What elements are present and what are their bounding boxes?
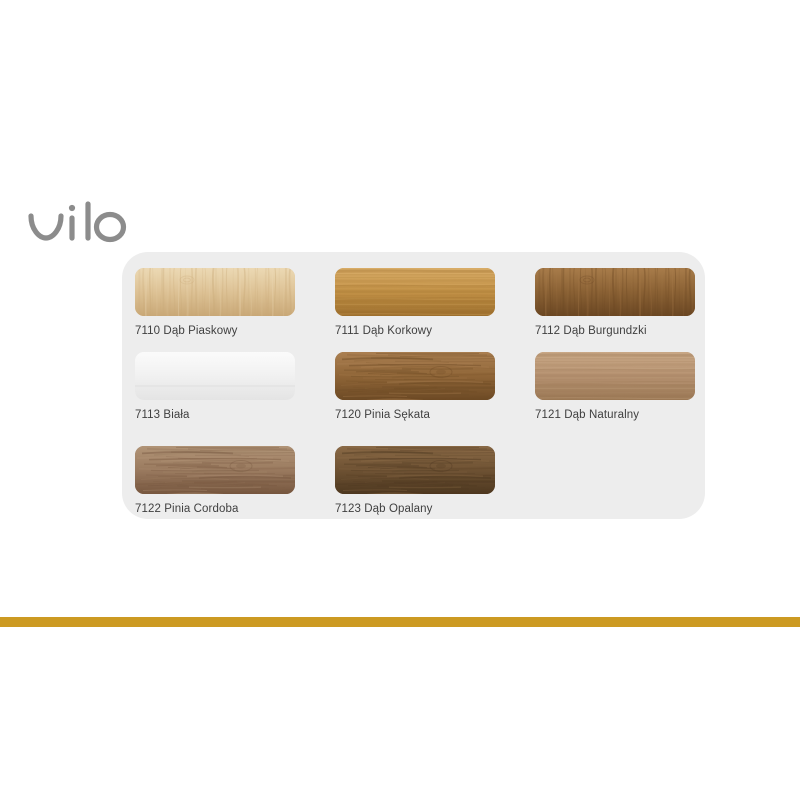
swatch-label-7123: 7123 Dąb Opalany <box>335 503 495 515</box>
swatch-grid: 7110 Dąb Piaskowy7111 Dąb Korkowy7112 Dą… <box>122 252 705 519</box>
swatch-item-7113[interactable]: 7113 Biała <box>135 352 295 421</box>
swatch-chip-7110[interactable] <box>135 268 295 316</box>
swatch-item-7122[interactable]: 7122 Pinia Cordoba <box>135 446 295 515</box>
swatch-chip-7121[interactable] <box>535 352 695 400</box>
swatch-panel: 7110 Dąb Piaskowy7111 Dąb Korkowy7112 Dą… <box>122 252 705 519</box>
letter-i-dot-icon <box>69 205 75 211</box>
swatch-label-7120: 7120 Pinia Sękata <box>335 409 495 421</box>
swatch-chip-7122[interactable] <box>135 446 295 494</box>
swatch-chip-7112[interactable] <box>535 268 695 316</box>
accent-bar <box>0 617 800 627</box>
swatch-label-7110: 7110 Dąb Piaskowy <box>135 325 295 337</box>
swatch-item-7120[interactable]: 7120 Pinia Sękata <box>335 352 495 421</box>
swatch-label-7112: 7112 Dąb Burgundzki <box>535 325 695 337</box>
swatch-chip-7113[interactable] <box>135 352 295 400</box>
swatch-item-7110[interactable]: 7110 Dąb Piaskowy <box>135 268 295 337</box>
swatch-label-7122: 7122 Pinia Cordoba <box>135 503 295 515</box>
swatch-item-7111[interactable]: 7111 Dąb Korkowy <box>335 268 495 337</box>
swatch-item-7121[interactable]: 7121 Dąb Naturalny <box>535 352 695 421</box>
swatch-label-7121: 7121 Dąb Naturalny <box>535 409 695 421</box>
swatch-item-7123[interactable]: 7123 Dąb Opalany <box>335 446 495 515</box>
swatch-chip-7111[interactable] <box>335 268 495 316</box>
swatch-chip-7120[interactable] <box>335 352 495 400</box>
brand-logo <box>26 196 146 252</box>
swatch-label-7111: 7111 Dąb Korkowy <box>335 325 495 337</box>
swatch-chip-7123[interactable] <box>335 446 495 494</box>
swatch-item-7112[interactable]: 7112 Dąb Burgundzki <box>535 268 695 337</box>
vilo-wordmark-icon <box>26 196 146 252</box>
swatch-label-7113: 7113 Biała <box>135 409 295 421</box>
